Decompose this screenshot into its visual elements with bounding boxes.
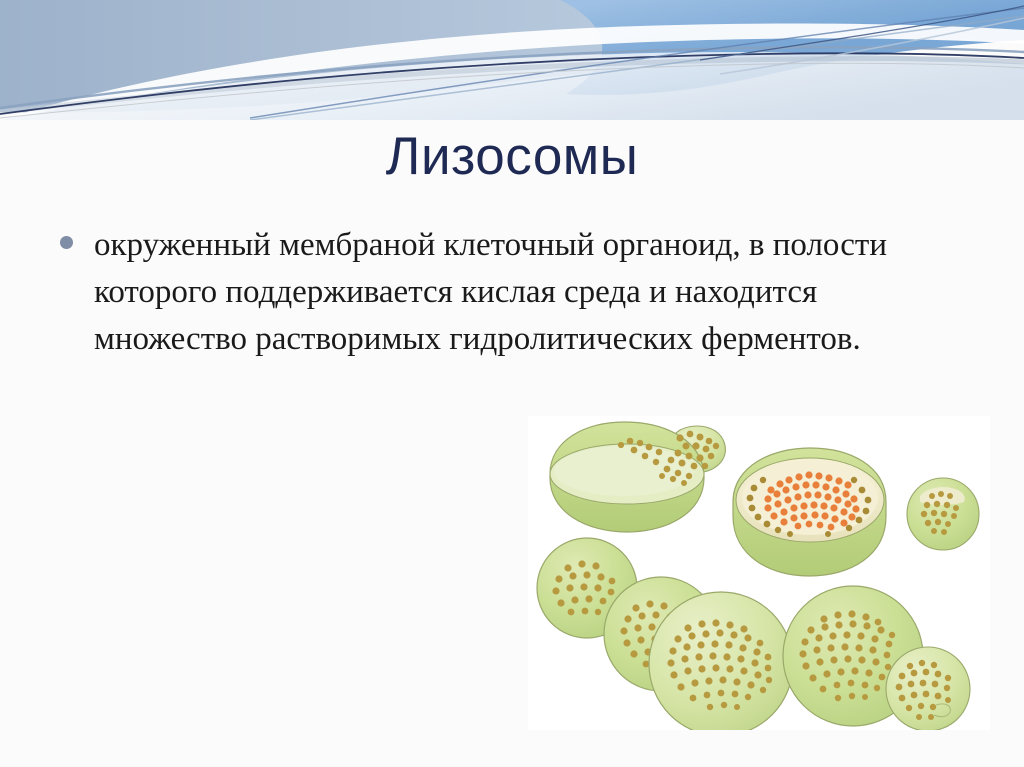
header-band-top bbox=[0, 0, 1024, 112]
lysosomes-illustration bbox=[528, 416, 990, 730]
header-strand-b bbox=[250, 16, 1024, 120]
header-pale-sweep bbox=[0, 52, 1024, 120]
body-bullet-list: окруженный мембраной клеточный органоид,… bbox=[52, 222, 912, 363]
header-strand-d bbox=[720, 18, 1024, 74]
header-gray-wave bbox=[0, 59, 1024, 112]
header-strand-a bbox=[250, 8, 1024, 118]
bullet-text: окруженный мембраной клеточный органоид,… bbox=[94, 222, 912, 363]
header-steel-curve bbox=[0, 47, 1024, 108]
header-decoration bbox=[0, 0, 1024, 120]
header-strand-c bbox=[700, 6, 1024, 60]
round-vesicle-mid-lower bbox=[649, 592, 793, 730]
round-vesicle-small-bottom-right bbox=[886, 647, 970, 730]
disc-bullet-icon bbox=[60, 236, 73, 249]
slide-title: Лизосомы bbox=[0, 128, 1024, 185]
small-vesicle-right bbox=[907, 478, 979, 550]
open-vesicle-center bbox=[733, 448, 886, 576]
header-hairline bbox=[0, 63, 1024, 118]
header-white-sweep bbox=[0, 23, 1024, 120]
header-navy-curve bbox=[0, 53, 1024, 114]
list-item: окруженный мембраной клеточный органоид,… bbox=[52, 222, 912, 363]
header-blue-lobe bbox=[560, 0, 1024, 95]
slide: Лизосомы окруженный мембраной клеточный … bbox=[0, 0, 1024, 767]
